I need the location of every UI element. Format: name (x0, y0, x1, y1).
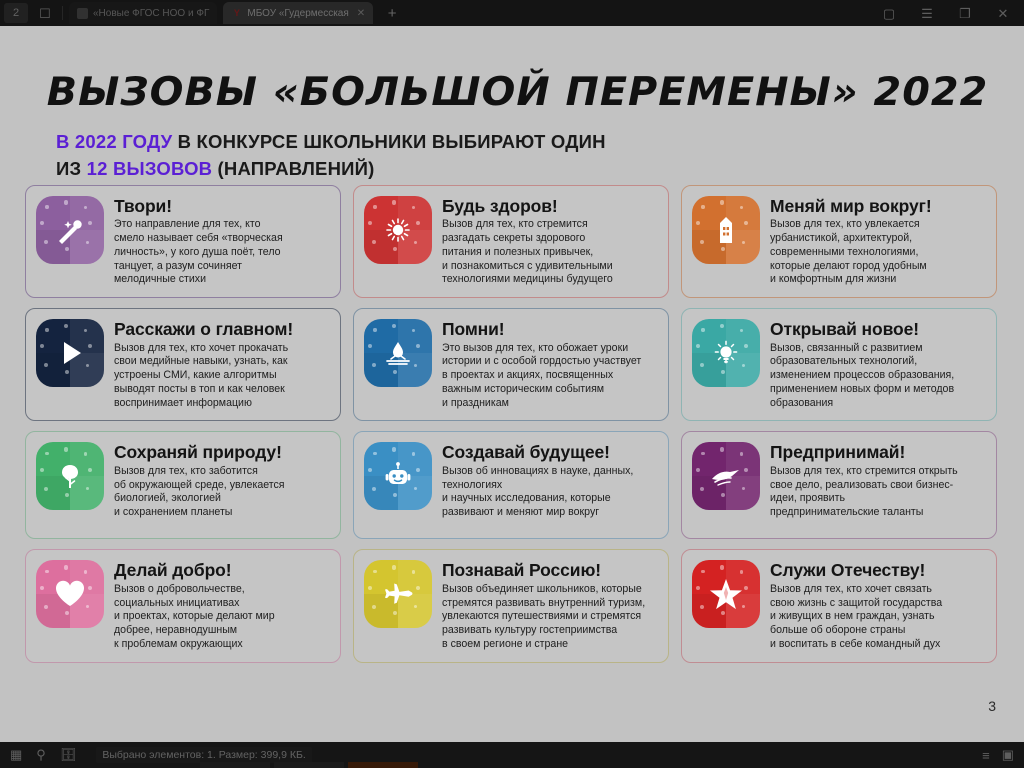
challenge-card-title: Меняй мир вокруг! (770, 197, 986, 215)
challenge-card: Меняй мир вокруг!Вызов для тех, кто увле… (681, 185, 997, 298)
challenge-card: Открывай новое!Вызов, связанный с развит… (681, 308, 997, 421)
magic-wand-icon-glyph (36, 196, 104, 264)
challenge-card: Помни!Это вызов для тех, кто обожает уро… (353, 308, 669, 421)
lightbulb-idea-icon-glyph (692, 319, 760, 387)
challenge-card-description: Вызов для тех, кто стремится разгадать с… (442, 218, 658, 287)
challenge-card-title: Помни! (442, 320, 658, 338)
airplane-icon (364, 560, 432, 628)
challenge-card-body: Сохраняй природу!Вызов для тех, кто забо… (114, 442, 330, 528)
restore-icon[interactable]: ❐ (954, 3, 976, 23)
presentation-slide: ВЫЗОВЫ «БОЛЬШОЙ ПЕРЕМЕНЫ» 2022 В 2022 ГО… (0, 26, 1024, 742)
slide-title: ВЫЗОВЫ «БОЛЬШОЙ ПЕРЕМЕНЫ» 2022 (47, 70, 989, 115)
star-icon-glyph (692, 560, 760, 628)
bookmark-icon[interactable]: ▢ (878, 3, 900, 23)
challenge-card: Твори!Это направление для тех, кто смело… (25, 185, 341, 298)
challenge-card-description: Вызов для тех, кто увлекается урбанистик… (770, 218, 986, 287)
browser-tab-1[interactable]: «Новые ФГОС НОО и ФГ (69, 2, 217, 24)
screen: 2 ☐ «Новые ФГОС НОО и ФГ Y МБОУ «Гудерме… (0, 0, 1024, 768)
search-icon[interactable]: ⚲ (36, 747, 46, 763)
new-tab-sheet-icon[interactable]: ☐ (34, 3, 56, 23)
challenge-card-description: Вызов о добровольчестве, социальных иниц… (114, 583, 330, 652)
taskbar-thumbnails (200, 762, 418, 768)
challenge-card: Делай добро!Вызов о добровольчестве, соц… (25, 549, 341, 662)
challenge-card: Предпринимай!Вызов для тех, кто стремитс… (681, 431, 997, 539)
challenge-card-title: Сохраняй природу! (114, 443, 330, 461)
file-explorer-icon[interactable]: 🗄 (60, 747, 77, 763)
challenge-card-description: Вызов для тех, кто стремится открыть сво… (770, 465, 986, 520)
challenge-card-title: Создавай будущее! (442, 443, 658, 461)
challenge-card-grid: Твори!Это направление для тех, кто смело… (25, 185, 1003, 663)
close-icon[interactable]: ✕ (992, 3, 1014, 23)
subtitle-line1-rest: В КОНКУРСЕ ШКОЛЬНИКИ ВЫБИРАЮТ ОДИН (172, 131, 605, 152)
challenge-card: Будь здоров!Вызов для тех, кто стремится… (353, 185, 669, 298)
sun-health-icon-glyph (364, 196, 432, 264)
lightbulb-idea-icon (692, 319, 760, 387)
subtitle-accent-count: 12 ВЫЗОВОВ (87, 158, 213, 179)
challenge-card-description: Вызов для тех, кто хочет прокачать свои … (114, 342, 330, 411)
challenge-card-description: Вызов для тех, кто хочет связать свою жи… (770, 583, 986, 652)
challenge-card-title: Познавай Россию! (442, 561, 658, 579)
page-number: 3 (988, 698, 996, 714)
challenge-card-title: Служи Отечеству! (770, 561, 986, 579)
challenge-card-body: Меняй мир вокруг!Вызов для тех, кто увле… (770, 196, 986, 287)
winged-arrow-icon-glyph (692, 442, 760, 510)
challenge-card-body: Расскажи о главном!Вызов для тех, кто хо… (114, 319, 330, 410)
magic-wand-icon (36, 196, 104, 264)
close-tab-icon[interactable]: ✕ (357, 8, 365, 19)
tree-icon-glyph (36, 442, 104, 510)
play-icon (36, 319, 104, 387)
browser-tab-2-title: МБОУ «Гудермесская (247, 8, 348, 19)
challenge-card-body: Создавай будущее!Вызов об инновациях в н… (442, 442, 658, 528)
details-view-icon[interactable]: ▣ (1002, 747, 1014, 763)
windows-taskbar: ▦ ⚲ 🗄 Выбрано элементов: 1. Размер: 399,… (0, 742, 1024, 768)
challenge-card-title: Твори! (114, 197, 330, 215)
challenge-card-title: Расскажи о главном! (114, 320, 330, 338)
challenge-card-description: Вызов для тех, кто заботится об окружающ… (114, 465, 330, 520)
building-icon-glyph (692, 196, 760, 264)
windows-icon[interactable]: ▦ (10, 747, 22, 763)
home-badge[interactable]: 2 (4, 3, 28, 23)
challenge-card-body: Будь здоров!Вызов для тех, кто стремится… (442, 196, 658, 287)
challenge-card-description: Это направление для тех, кто смело назыв… (114, 218, 330, 287)
challenge-card-title: Предпринимай! (770, 443, 986, 461)
taskbar-thumb[interactable] (348, 762, 418, 768)
challenge-card-description: Вызов, связанный с развитием образовател… (770, 342, 986, 411)
challenge-card-description: Вызов об инновациях в науке, данных, тех… (442, 465, 658, 520)
divider (62, 6, 63, 20)
heart-icon (36, 560, 104, 628)
building-icon (692, 196, 760, 264)
challenge-card: Создавай будущее!Вызов об инновациях в н… (353, 431, 669, 539)
challenge-card-body: Делай добро!Вызов о добровольчестве, соц… (114, 560, 330, 651)
challenge-card: Расскажи о главном!Вызов для тех, кто хо… (25, 308, 341, 421)
menu-icon[interactable]: ☰ (916, 3, 938, 23)
challenge-card-body: Открывай новое!Вызов, связанный с развит… (770, 319, 986, 410)
yandex-favicon: Y (231, 8, 242, 19)
challenge-card: Сохраняй природу!Вызов для тех, кто забо… (25, 431, 341, 539)
winged-arrow-icon (692, 442, 760, 510)
challenge-card: Служи Отечеству!Вызов для тех, кто хочет… (681, 549, 997, 662)
browser-tab-1-title: «Новые ФГОС НОО и ФГ (93, 8, 209, 19)
airplane-icon-glyph (364, 560, 432, 628)
sun-health-icon (364, 196, 432, 264)
browser-tab-bar: 2 ☐ «Новые ФГОС НОО и ФГ Y МБОУ «Гудерме… (0, 0, 1024, 26)
challenge-card-body: Твори!Это направление для тех, кто смело… (114, 196, 330, 287)
subtitle-line2-prefix: ИЗ (56, 158, 87, 179)
new-tab-button[interactable]: + (379, 5, 405, 22)
star-icon (692, 560, 760, 628)
status-bar-text: Выбрано элементов: 1. Размер: 399,9 КБ. (96, 747, 311, 763)
slide-subtitle: В 2022 ГОДУ В КОНКУРСЕ ШКОЛЬНИКИ ВЫБИРАЮ… (56, 129, 606, 183)
page-icon (77, 8, 88, 19)
eternal-flame-icon (364, 319, 432, 387)
challenge-card-title: Будь здоров! (442, 197, 658, 215)
browser-tab-2[interactable]: Y МБОУ «Гудермесская ✕ (223, 2, 373, 24)
play-icon-glyph (36, 319, 104, 387)
home-badge-count: 2 (13, 7, 19, 19)
list-view-icon[interactable]: ≡ (982, 748, 990, 763)
heart-icon-glyph (36, 560, 104, 628)
challenge-card-body: Помни!Это вызов для тех, кто обожает уро… (442, 319, 658, 410)
subtitle-line2-suffix: (НАПРАВЛЕНИЙ) (212, 158, 374, 179)
subtitle-accent-year: В 2022 ГОДУ (56, 131, 172, 152)
taskbar-thumb[interactable] (200, 762, 270, 768)
challenge-card-body: Познавай Россию!Вызов объединяет школьни… (442, 560, 658, 651)
robot-icon-glyph (364, 442, 432, 510)
robot-icon (364, 442, 432, 510)
challenge-card-description: Вызов объединяет школьников, которые стр… (442, 583, 658, 652)
challenge-card-description: Это вызов для тех, кто обожает уроки ист… (442, 342, 658, 411)
taskbar-thumb[interactable] (274, 762, 344, 768)
challenge-card-title: Делай добро! (114, 561, 330, 579)
challenge-card-title: Открывай новое! (770, 320, 986, 338)
eternal-flame-icon-glyph (364, 319, 432, 387)
tree-icon (36, 442, 104, 510)
challenge-card-body: Служи Отечеству!Вызов для тех, кто хочет… (770, 560, 986, 651)
challenge-card: Познавай Россию!Вызов объединяет школьни… (353, 549, 669, 662)
challenge-card-body: Предпринимай!Вызов для тех, кто стремитс… (770, 442, 986, 528)
